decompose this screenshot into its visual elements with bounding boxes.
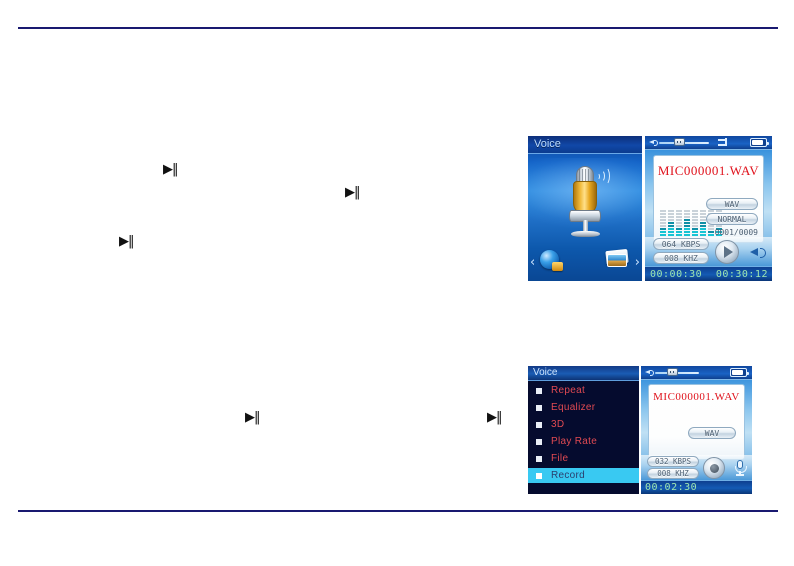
battery-icon [750, 138, 767, 147]
globe-icon[interactable] [540, 250, 559, 269]
recorder-statusbar [641, 366, 752, 380]
voice-menu-title: Voice [533, 367, 557, 378]
play-pause-glyph-1: ▶‖ [163, 163, 178, 176]
volume-knob[interactable] [667, 368, 678, 376]
samplerate-badge: 008 KHZ [647, 468, 699, 479]
repeat-mode-icon[interactable] [718, 138, 730, 147]
voice-splash-title: Voice [534, 138, 561, 150]
menu-item-equalizer[interactable]: Equalizer [528, 400, 639, 415]
play-pause-glyph-2: ▶‖ [345, 186, 360, 199]
voice-splash-screen: Voice ‹ › [528, 136, 642, 281]
menu-item-label: Equalizer [551, 402, 595, 413]
play-pause-glyph-3: ▶‖ [119, 235, 134, 248]
document-page: ▶‖ ▶‖ ▶‖ ▶‖ ▶‖ Voice ‹ › [0, 0, 794, 566]
menu-item-label: Repeat [551, 385, 585, 396]
microphone-icon[interactable] [734, 460, 746, 476]
menu-item-label: Play Rate [551, 436, 597, 447]
elapsed-time: 00:00:30 [650, 269, 702, 280]
bullet-icon [536, 422, 542, 428]
menu-item-record[interactable]: Record [528, 468, 639, 483]
format-badge: WAV [706, 198, 758, 210]
photo-icon[interactable] [604, 250, 630, 270]
bitrate-badge: 064 KBPS [653, 238, 709, 250]
bullet-icon [536, 456, 542, 462]
eq-mode-badge: NORMAL [706, 213, 758, 225]
menu-item-label: 3D [551, 419, 564, 430]
speaker-icon[interactable] [750, 246, 766, 259]
bitrate-badge: 032 KBPS [647, 456, 699, 467]
play-pause-glyph-4: ▶‖ [245, 411, 260, 424]
track-index: 0001/0009 [715, 228, 758, 237]
menu-item-3d[interactable]: 3D [528, 417, 639, 432]
elapsed-time: 00:02:30 [645, 482, 697, 493]
prev-arrow-icon[interactable]: ‹ [530, 256, 535, 269]
volume-knob[interactable] [674, 138, 685, 146]
player-lcd: MIC000001.WAV WAV NORMAL 0001/0009 [653, 155, 764, 243]
menu-item-label: Record [551, 470, 585, 481]
player-statusbar [645, 136, 772, 150]
play-pause-glyph-5: ▶‖ [487, 411, 502, 424]
bullet-icon [536, 439, 542, 445]
bullet-icon [536, 405, 542, 411]
battery-icon [730, 368, 747, 377]
voice-recorder-screen: MIC000001.WAV WAV 032 KBPS 008 KHZ 00:02… [641, 366, 752, 494]
speaker-icon [645, 369, 653, 376]
header-rule [18, 27, 778, 29]
bullet-icon [536, 388, 542, 394]
recorder-lcd: MIC000001.WAV WAV [648, 384, 745, 460]
menu-item-file[interactable]: File [528, 451, 639, 466]
record-button[interactable] [703, 457, 725, 479]
menu-item-play-rate[interactable]: Play Rate [528, 434, 639, 449]
play-button[interactable] [715, 240, 739, 264]
samplerate-badge: 008 KHZ [653, 252, 709, 264]
footer-rule [18, 510, 778, 512]
total-time: 00:30:12 [716, 269, 768, 280]
next-arrow-icon[interactable]: › [635, 256, 640, 269]
menu-item-label: File [551, 453, 568, 464]
track-name: MIC000001.WAV [649, 391, 744, 403]
speaker-icon [649, 139, 657, 146]
microphone-icon [563, 166, 607, 240]
menu-item-repeat[interactable]: Repeat [528, 383, 639, 398]
bullet-icon [536, 473, 542, 479]
format-badge: WAV [688, 427, 736, 439]
voice-menu-titlebar: Voice [528, 366, 639, 381]
voice-player-screen: MIC000001.WAV WAV NORMAL 0001/0009 064 K… [645, 136, 772, 281]
voice-menu-screen: Voice Repeat Equalizer 3D Play Rate File… [528, 366, 639, 494]
voice-splash-titlebar: Voice [528, 136, 642, 154]
track-name: MIC000001.WAV [654, 163, 763, 179]
